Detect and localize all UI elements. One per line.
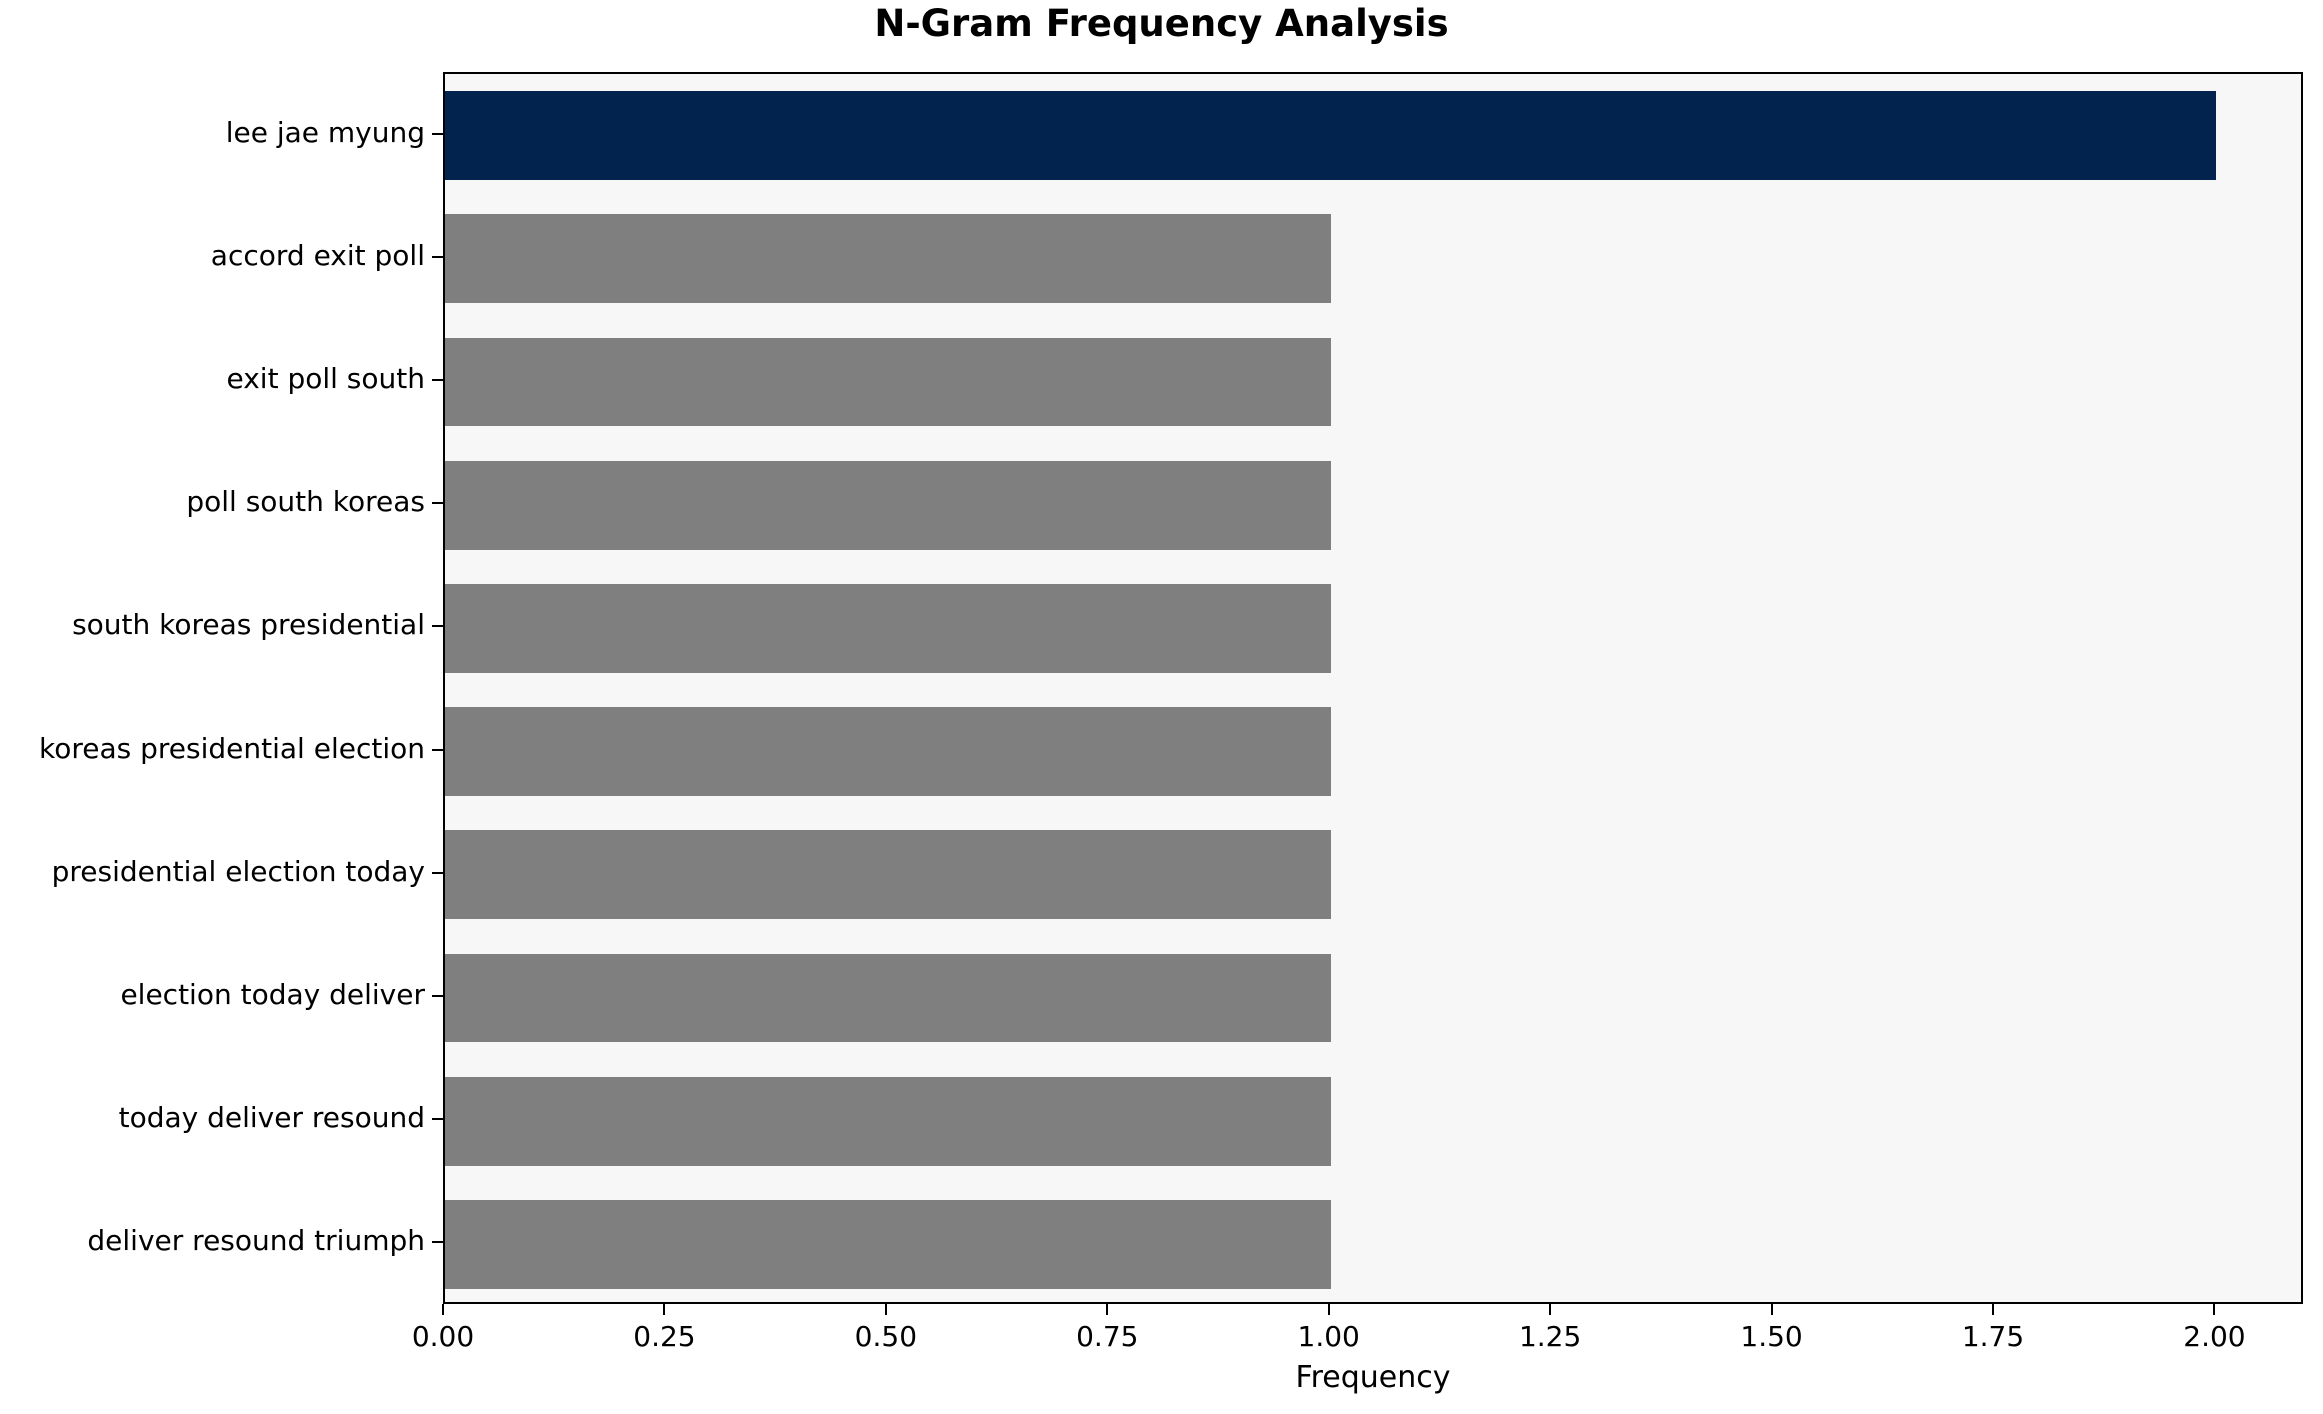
y-tick-label: south koreas presidential — [0, 608, 425, 641]
x-tick-label: 1.00 — [1259, 1320, 1399, 1353]
y-tick-label: deliver resound triumph — [0, 1224, 425, 1257]
y-tick-mark — [432, 133, 443, 135]
plot-area — [443, 72, 2303, 1304]
bar — [445, 1077, 1331, 1166]
x-tick-label: 0.50 — [816, 1320, 956, 1353]
bar — [445, 1200, 1331, 1289]
y-tick-mark — [432, 379, 443, 381]
y-tick-label: exit poll south — [0, 362, 425, 395]
bar — [445, 707, 1331, 796]
y-tick-mark — [432, 749, 443, 751]
x-tick-mark — [885, 1304, 887, 1315]
x-tick-label: 1.25 — [1480, 1320, 1620, 1353]
y-tick-label: presidential election today — [0, 855, 425, 888]
x-tick-mark — [442, 1304, 444, 1315]
y-tick-mark — [432, 502, 443, 504]
bar — [445, 91, 2216, 180]
y-tick-mark — [432, 1241, 443, 1243]
y-tick-label: poll south koreas — [0, 485, 425, 518]
bar — [445, 214, 1331, 303]
y-tick-mark — [432, 872, 443, 874]
x-tick-mark — [1328, 1304, 1330, 1315]
x-tick-label: 0.25 — [594, 1320, 734, 1353]
x-tick-label: 0.00 — [373, 1320, 513, 1353]
y-tick-label: koreas presidential election — [0, 732, 425, 765]
bar — [445, 338, 1331, 427]
x-tick-mark — [1992, 1304, 1994, 1315]
y-tick-label: lee jae myung — [0, 116, 425, 149]
ngram-frequency-chart-figure: N-Gram Frequency Analysis lee jae myunga… — [0, 0, 2323, 1414]
y-tick-mark — [432, 625, 443, 627]
x-tick-mark — [663, 1304, 665, 1315]
y-tick-mark — [432, 1118, 443, 1120]
x-tick-label: 1.75 — [1923, 1320, 2063, 1353]
y-tick-label: election today deliver — [0, 978, 425, 1011]
x-tick-label: 0.75 — [1037, 1320, 1177, 1353]
x-tick-mark — [1549, 1304, 1551, 1315]
x-tick-label: 1.50 — [1702, 1320, 1842, 1353]
x-tick-mark — [1106, 1304, 1108, 1315]
y-tick-mark — [432, 995, 443, 997]
bar — [445, 954, 1331, 1043]
bar — [445, 584, 1331, 673]
bar — [445, 830, 1331, 919]
y-tick-label: accord exit poll — [0, 239, 425, 272]
bars-container — [445, 74, 2301, 1302]
y-tick-mark — [432, 256, 443, 258]
x-tick-label: 2.00 — [2144, 1320, 2284, 1353]
x-tick-mark — [1771, 1304, 1773, 1315]
x-tick-mark — [2213, 1304, 2215, 1315]
x-axis-title: Frequency — [443, 1360, 2303, 1395]
y-tick-label: today deliver resound — [0, 1101, 425, 1134]
chart-title: N-Gram Frequency Analysis — [0, 2, 2323, 46]
bar — [445, 461, 1331, 550]
